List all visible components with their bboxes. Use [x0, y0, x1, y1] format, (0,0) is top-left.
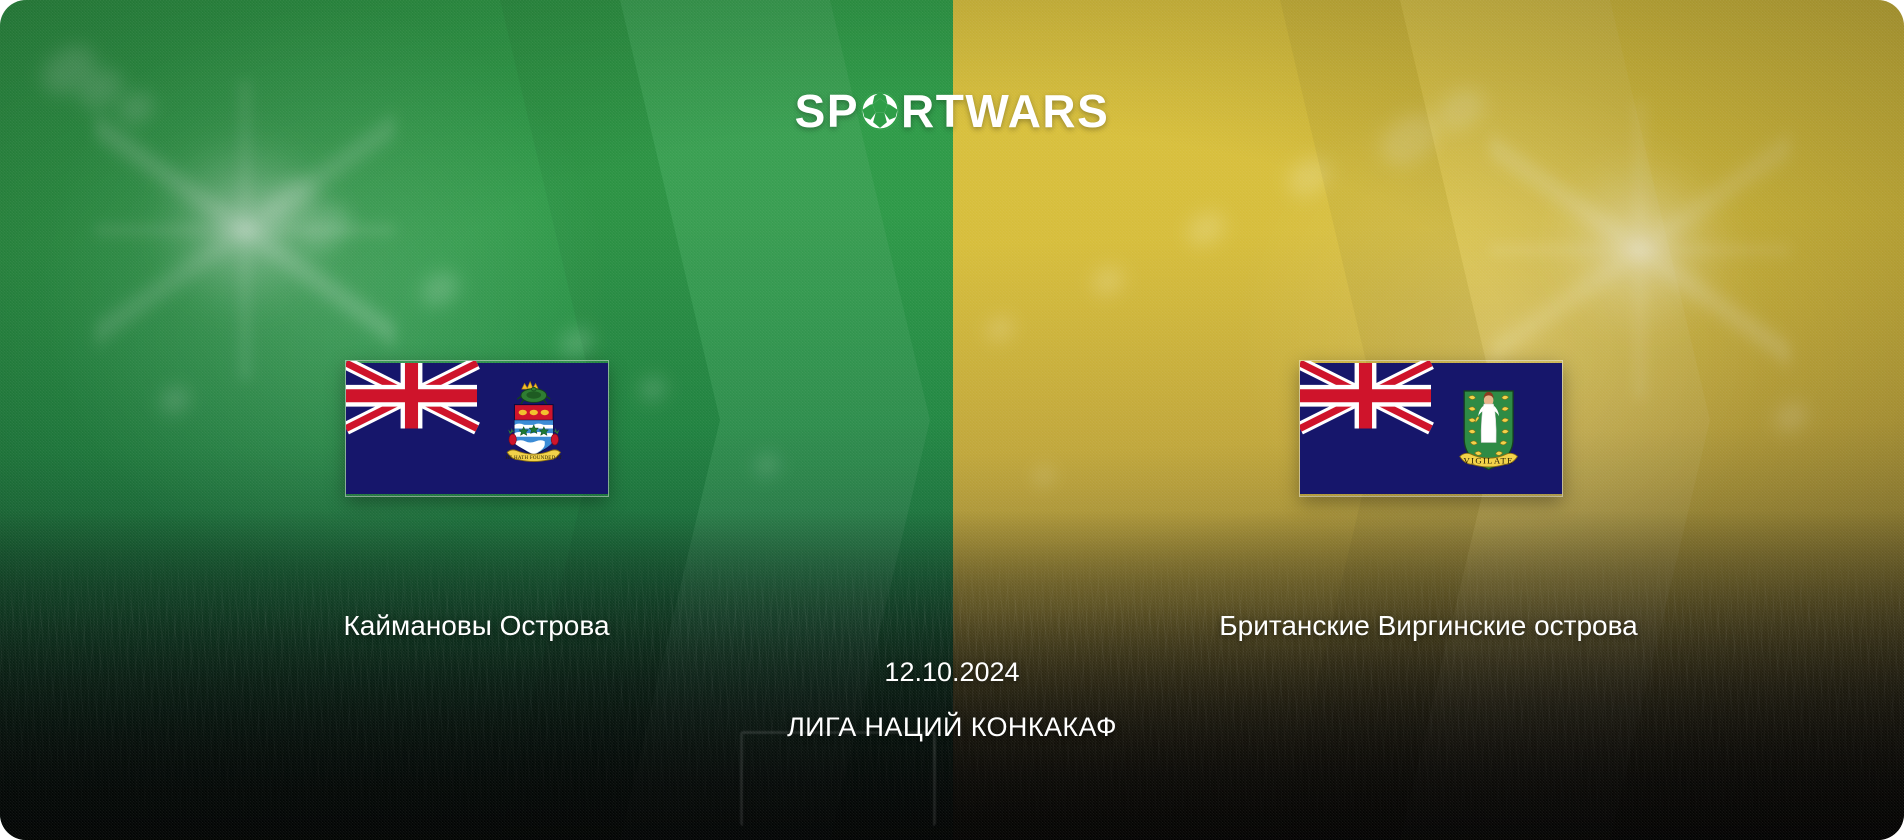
- british-virgin-islands-flag-icon: VIGILATE: [1300, 361, 1562, 496]
- svg-text:HE HATH FOUNDED IT: HE HATH FOUNDED IT: [505, 455, 562, 461]
- brand-logo[interactable]: SP RTWARS: [0, 88, 1904, 134]
- match-date: 12.10.2024: [0, 657, 1904, 688]
- soccer-ball-icon: [860, 91, 900, 131]
- away-team-name: Британские Виргинские острова: [953, 610, 1904, 642]
- competition-name: ЛИГА НАЦИЙ КОНКАКАФ: [0, 712, 1904, 743]
- brand-name-prefix: SP: [795, 88, 859, 134]
- match-preview-banner: SP RTWARS: [0, 0, 1904, 840]
- cayman-islands-flag-icon: HE HATH FOUNDED IT: [346, 361, 608, 496]
- home-team-name: Каймановы Острова: [0, 610, 953, 642]
- brand-name-suffix: RTWARS: [901, 88, 1109, 134]
- svg-text:VIGILATE: VIGILATE: [1464, 455, 1514, 465]
